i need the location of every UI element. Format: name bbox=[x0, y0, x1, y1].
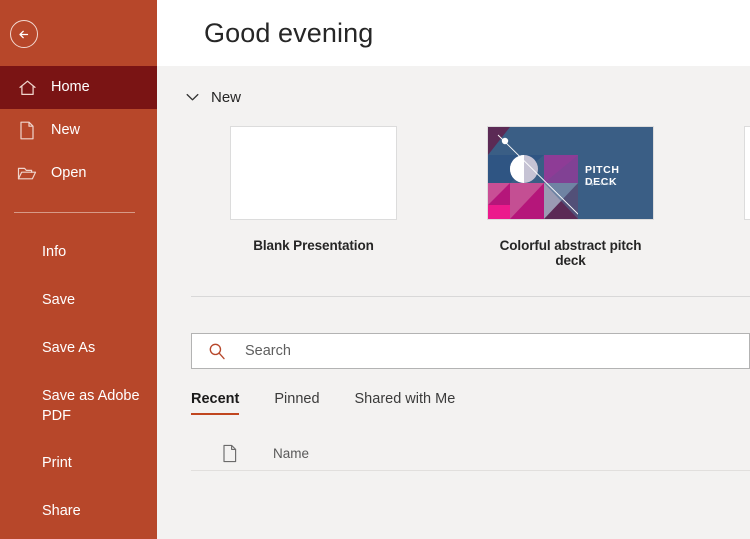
backstage-sidebar: Home New Open bbox=[0, 0, 157, 539]
document-icon bbox=[219, 443, 241, 465]
template-card-third[interactable] bbox=[744, 126, 750, 268]
section-divider bbox=[191, 296, 750, 297]
sidebar-item-open[interactable]: Open bbox=[0, 152, 157, 195]
tab-shared-with-me[interactable]: Shared with Me bbox=[355, 391, 456, 415]
sidebar-item-new[interactable]: New bbox=[0, 109, 157, 152]
sidebar-item-label: New bbox=[51, 122, 80, 139]
sidebar-item-label: Share bbox=[42, 502, 81, 521]
sidebar-item-label: Home bbox=[51, 79, 90, 96]
sidebar-item-save-as-adobe-pdf[interactable]: Save as Adobe PDF bbox=[0, 373, 157, 440]
sidebar-item-label: Open bbox=[51, 165, 86, 182]
sidebar-item-save-as[interactable]: Save As bbox=[0, 325, 157, 373]
sidebar-item-print[interactable]: Print bbox=[0, 440, 157, 488]
file-list-header: Name bbox=[191, 437, 750, 471]
search-icon bbox=[207, 341, 227, 361]
new-section-header[interactable]: New bbox=[157, 66, 750, 106]
sidebar-item-label: Save as Adobe PDF bbox=[42, 387, 142, 425]
sidebar-nav: Home New Open bbox=[0, 66, 157, 536]
page-title: Good evening bbox=[204, 18, 373, 49]
template-thumbnail: PITCH DECK Megan Nelson bbox=[487, 126, 654, 220]
chevron-down-icon bbox=[183, 88, 201, 106]
search-box[interactable] bbox=[191, 333, 750, 369]
sidebar-item-label: Info bbox=[42, 243, 66, 262]
template-card-colorful-abstract-pitch-deck[interactable]: PITCH DECK Megan Nelson Colorful abstrac… bbox=[487, 126, 654, 268]
sidebar-item-share[interactable]: Share bbox=[0, 488, 157, 536]
sidebar-item-save[interactable]: Save bbox=[0, 277, 157, 325]
search-input[interactable] bbox=[245, 343, 733, 359]
back-arrow-icon bbox=[16, 26, 33, 43]
backstage-main: Good evening New Blank Presentation bbox=[157, 0, 750, 539]
pitch-deck-subtitle: Megan Nelson bbox=[585, 181, 613, 186]
sidebar-separator bbox=[14, 212, 135, 213]
sidebar-item-home[interactable]: Home bbox=[0, 66, 157, 109]
powerpoint-backstage: Home New Open bbox=[0, 0, 750, 539]
home-icon bbox=[16, 77, 38, 99]
sidebar-item-label: Save bbox=[42, 291, 75, 310]
file-tabs: Recent Pinned Shared with Me bbox=[191, 391, 750, 415]
back-button[interactable] bbox=[10, 20, 38, 48]
template-caption: Blank Presentation bbox=[230, 238, 397, 253]
sidebar-item-label: Print bbox=[42, 454, 72, 473]
template-caption: Colorful abstract pitch deck bbox=[487, 238, 654, 268]
new-section-title: New bbox=[211, 89, 241, 106]
page-icon bbox=[16, 120, 38, 142]
sidebar-item-info[interactable]: Info bbox=[0, 229, 157, 277]
sidebar-item-label: Save As bbox=[42, 339, 95, 358]
tab-pinned[interactable]: Pinned bbox=[274, 391, 319, 415]
column-header-name: Name bbox=[273, 446, 309, 461]
greeting-bar: Good evening bbox=[157, 0, 750, 66]
tab-recent[interactable]: Recent bbox=[191, 391, 239, 415]
template-thumbnail bbox=[744, 126, 750, 220]
template-card-blank-presentation[interactable]: Blank Presentation bbox=[230, 126, 397, 268]
template-gallery: Blank Presentation bbox=[157, 126, 750, 268]
folder-icon bbox=[16, 163, 38, 185]
template-thumbnail bbox=[230, 126, 397, 220]
